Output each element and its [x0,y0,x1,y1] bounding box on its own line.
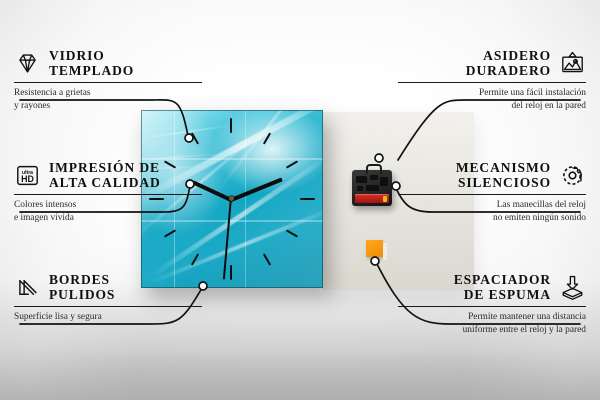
battery [355,194,389,203]
clock-mechanism [352,170,392,206]
diamond-icon [14,50,41,77]
feature-title-line-1: MECANISMO [456,160,551,175]
feature-espaciador-de-espuma: ESPACIADOR DE ESPUMA Permite mantener un… [398,272,586,337]
feature-bordes-pulidos: BORDES PULIDOS Superficie lisa y segura [14,272,202,324]
feature-desc-line-1: Las manecillas del reloj [398,199,586,212]
feature-title-line-2: ALTA CALIDAD [49,175,161,190]
feature-desc-line-2: del reloj en la pared [398,100,586,113]
hanging-frame-icon [559,50,586,77]
ultra-hd-badge-icon: ultra HD [14,162,41,189]
feature-desc-line-2: uniforme entre el reloj y la pared [398,324,586,337]
feature-desc-line-2: e imagen vívida [14,212,202,225]
polished-edges-icon [14,274,41,301]
feature-title-line-1: ESPACIADOR [454,272,551,287]
feature-title-line-2: TEMPLADO [49,63,134,78]
feature-desc-line-1: Permite una fácil instalación [398,87,586,100]
feature-rule [14,194,202,195]
feature-desc-line-2: y rayones [14,100,202,113]
feature-rule [398,306,586,307]
foam-spacer [366,240,383,257]
battery-terminal [383,196,387,202]
feature-title-line-2: PULIDOS [49,287,115,302]
feature-title-line-2: SILENCIOSO [456,175,551,190]
feature-desc-line-1: Colores intensos [14,199,202,212]
feature-desc-line-1: Permite mantener una distancia [398,311,586,324]
feature-desc-line-1: Resistencia a grietas [14,87,202,100]
feature-title-line-2: DE ESPUMA [454,287,551,302]
feature-vidrio-templado: VIDRIO TEMPLADO Resistencia a grietas y … [14,48,202,113]
feature-rule [14,82,202,83]
infographic-canvas: VIDRIO TEMPLADO Resistencia a grietas y … [0,0,600,400]
feature-impresion-alta-calidad: ultra HD IMPRESIÓN DE ALTA CALIDAD Color… [14,160,202,225]
feature-desc-line-2: no emiten ningún sonido [398,212,586,225]
gear-icon [559,162,586,189]
feature-desc-line-1: Superficie lisa y segura [14,311,202,324]
feature-title-line-2: DURADERO [466,63,551,78]
foam-spacer-arrow-icon [559,274,586,301]
feature-rule [14,306,202,307]
feature-title-line-1: IMPRESIÓN DE [49,160,161,175]
feature-title-line-1: VIDRIO [49,48,134,63]
mechanism-hanger [366,164,382,174]
foam-spacer-side [383,243,387,260]
feature-title-line-1: ASIDERO [466,48,551,63]
ultra-hd-large-text: HD [21,173,34,183]
feature-rule [398,82,586,83]
feature-rule [398,194,586,195]
feature-mecanismo-silencioso: MECANISMO SILENCIOSO Las manecillas del … [398,160,586,225]
feature-title-line-1: BORDES [49,272,115,287]
feature-asidero-duradero: ASIDERO DURADERO Permite una fácil insta… [398,48,586,113]
